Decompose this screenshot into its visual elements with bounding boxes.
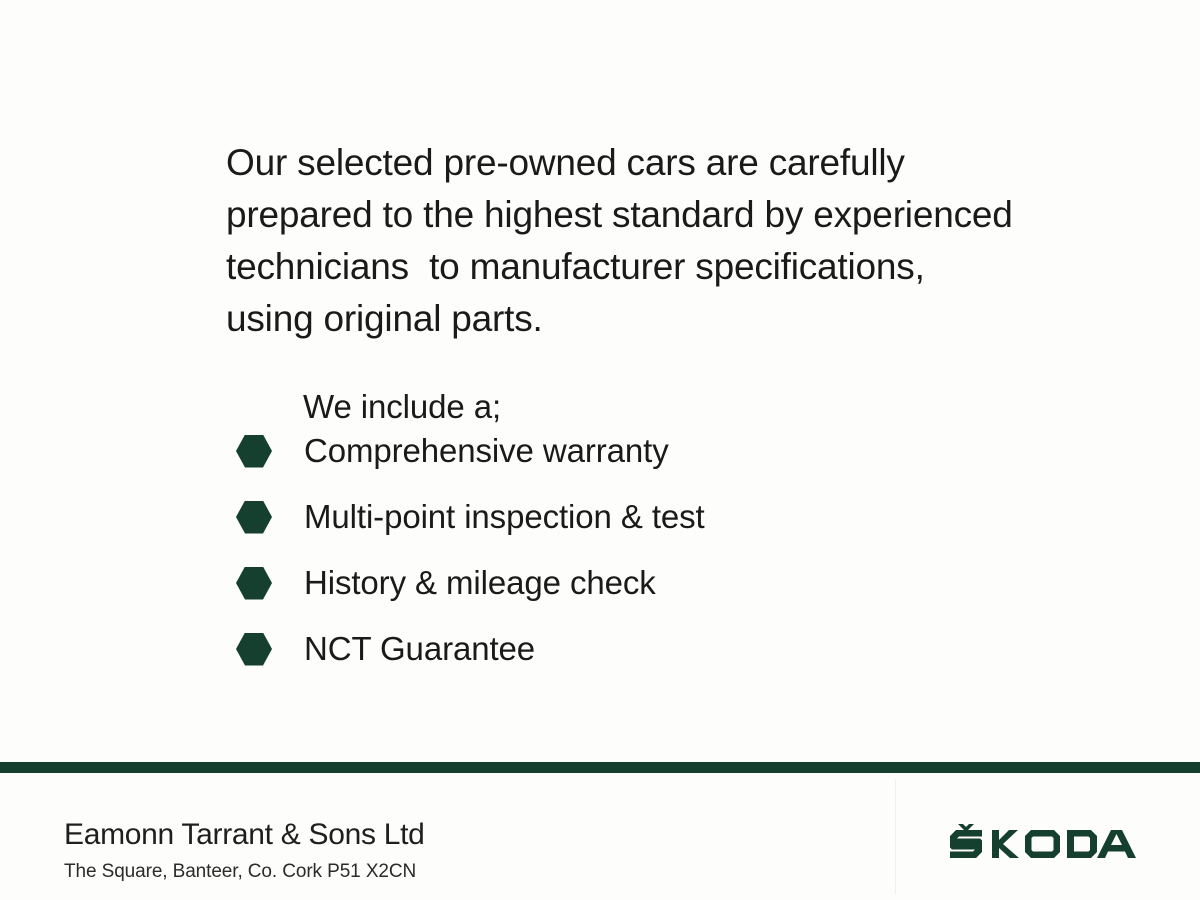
hexagon-bullet-icon — [236, 501, 272, 534]
advert-poster: Our selected pre-owned cars are carefull… — [0, 0, 1200, 900]
dealer-details: Eamonn Tarrant & Sons Ltd The Square, Ba… — [64, 817, 425, 884]
list-item-label: History & mileage check — [304, 564, 656, 602]
skoda-wordmark-logo — [946, 821, 1136, 861]
hexagon-bullet-icon — [236, 567, 272, 600]
page-title: Our selected pre-owned cars are carefull… — [226, 137, 1016, 345]
dealer-address: The Square, Banteer, Co. Cork P51 X2CN — [64, 859, 425, 884]
footer-divider-bar — [0, 762, 1200, 773]
list-item-label: NCT Guarantee — [304, 630, 535, 668]
poster-footer: Eamonn Tarrant & Sons Ltd The Square, Ba… — [0, 773, 1200, 900]
skoda-wordmark-icon — [946, 821, 1136, 861]
list-item: Multi-point inspection & test — [236, 484, 705, 550]
hexagon-bullet-icon — [236, 435, 272, 468]
benefits-list: Comprehensive warranty Multi-point inspe… — [236, 418, 705, 682]
poster-content: Our selected pre-owned cars are carefull… — [0, 0, 1200, 762]
list-item-label: Multi-point inspection & test — [304, 498, 705, 536]
footer-vertical-separator — [895, 779, 896, 894]
list-item: NCT Guarantee — [236, 616, 705, 682]
list-item-label: Comprehensive warranty — [304, 432, 669, 470]
list-item: History & mileage check — [236, 550, 705, 616]
dealer-name: Eamonn Tarrant & Sons Ltd — [64, 817, 425, 853]
list-item: Comprehensive warranty — [236, 418, 705, 484]
hexagon-bullet-icon — [236, 633, 272, 666]
